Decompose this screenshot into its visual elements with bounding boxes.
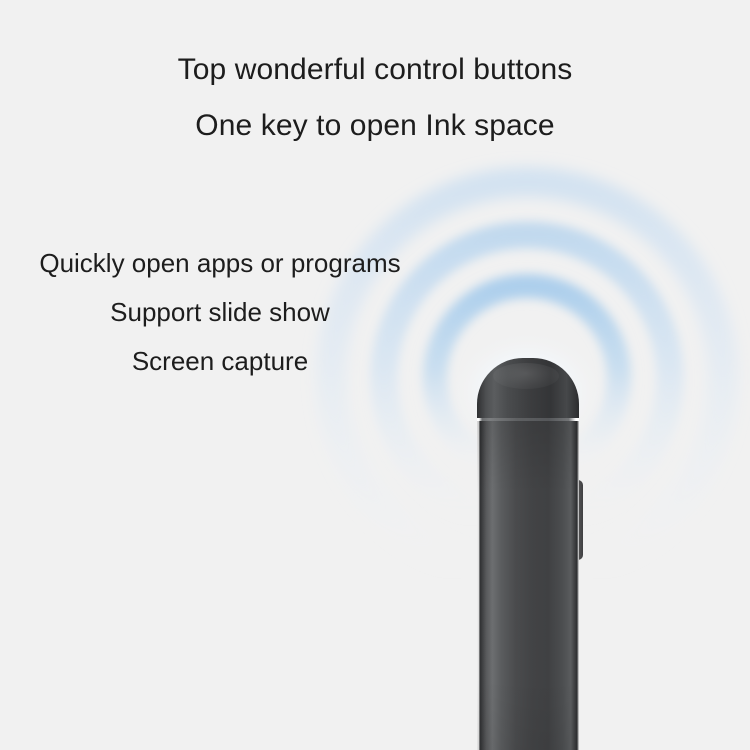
product-feature-banner: Top wonderful control buttons One key to… <box>0 0 750 750</box>
feature-list: Quickly open apps or programs Support sl… <box>0 250 440 397</box>
cap-highlight <box>493 363 559 389</box>
stylus-pen-image <box>477 358 579 750</box>
headline-line-2: One key to open Ink space <box>0 111 750 141</box>
barrel-shading <box>477 421 579 750</box>
feature-item-slide-show: Support slide show <box>0 299 440 325</box>
feature-item-open-apps: Quickly open apps or programs <box>0 250 440 276</box>
stylus-barrel <box>477 421 579 750</box>
stylus-cap <box>477 358 579 422</box>
headline-line-1: Top wonderful control buttons <box>0 55 750 85</box>
feature-item-screen-capture: Screen capture <box>0 348 440 374</box>
